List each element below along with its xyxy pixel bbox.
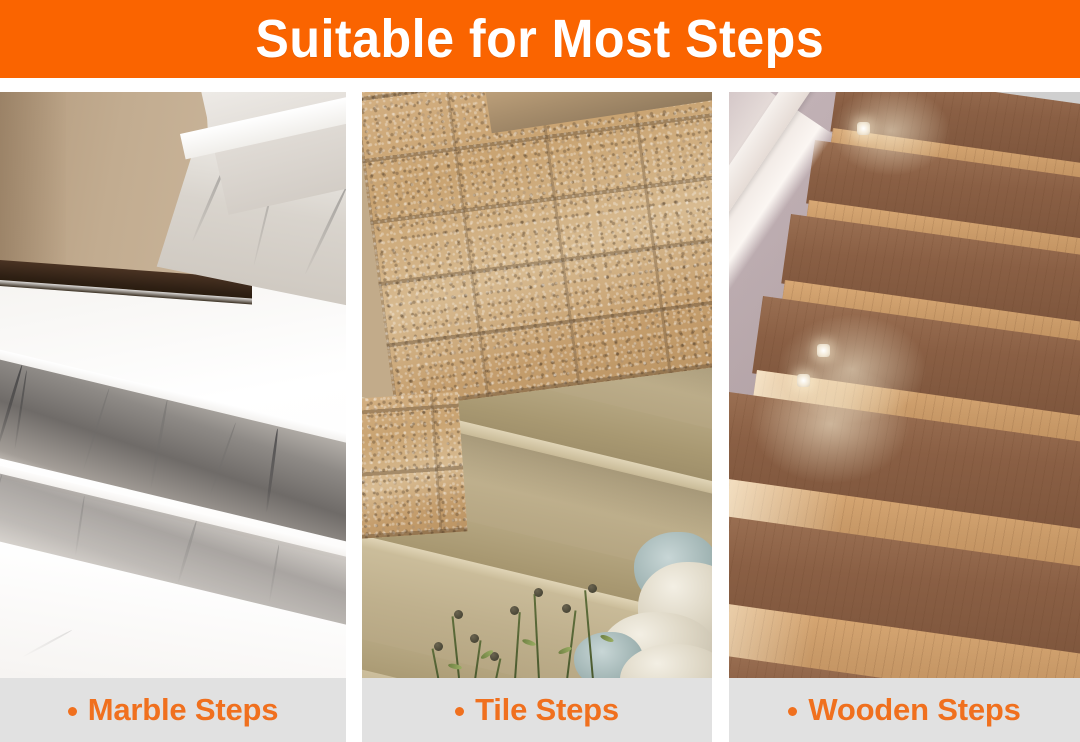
- plant-bud-5: [534, 588, 543, 597]
- plant-bud-2: [470, 634, 479, 643]
- wooden-steps-photo: [729, 92, 1080, 678]
- plant-bud-1: [454, 610, 463, 619]
- marble-steps-photo: [0, 92, 346, 678]
- stone-block-lower: [362, 392, 467, 540]
- bullet-icon: [788, 707, 797, 716]
- caption-wooden-steps: Wooden Steps: [729, 678, 1080, 742]
- plant-bud-4: [510, 606, 519, 615]
- page-title: Suitable for Most Steps: [256, 11, 825, 67]
- bullet-icon: [455, 707, 464, 716]
- plant-bud-6: [562, 604, 571, 613]
- caption-row: Marble Steps Tile Steps Wooden Steps: [0, 678, 1080, 742]
- stone-block-wall: [362, 92, 712, 409]
- caption-label-tile: Tile Steps: [475, 693, 619, 727]
- caption-label-wood: Wooden Steps: [808, 693, 1020, 727]
- plant-bud-3: [434, 642, 443, 651]
- recessed-wall-light-3: [797, 374, 810, 387]
- panel-wooden-steps: [729, 92, 1080, 678]
- panel-tile-steps: [362, 92, 712, 678]
- product-feature-page: Suitable for Most Steps: [0, 0, 1080, 742]
- panel-row: [0, 92, 1080, 678]
- panel-marble-steps: [0, 92, 346, 678]
- header-banner: Suitable for Most Steps: [0, 0, 1080, 78]
- caption-tile-steps: Tile Steps: [362, 678, 712, 742]
- stone-texture-lower: [362, 392, 467, 540]
- plant-bud-7: [588, 584, 597, 593]
- tile-steps-photo: [362, 92, 712, 678]
- wall-shadow: [0, 92, 66, 277]
- bullet-icon: [68, 707, 77, 716]
- recessed-wall-light-2: [817, 344, 830, 357]
- recessed-wall-light-1: [857, 122, 870, 135]
- caption-marble-steps: Marble Steps: [0, 678, 346, 742]
- stone-texture: [362, 92, 712, 409]
- caption-label-marble: Marble Steps: [88, 693, 279, 727]
